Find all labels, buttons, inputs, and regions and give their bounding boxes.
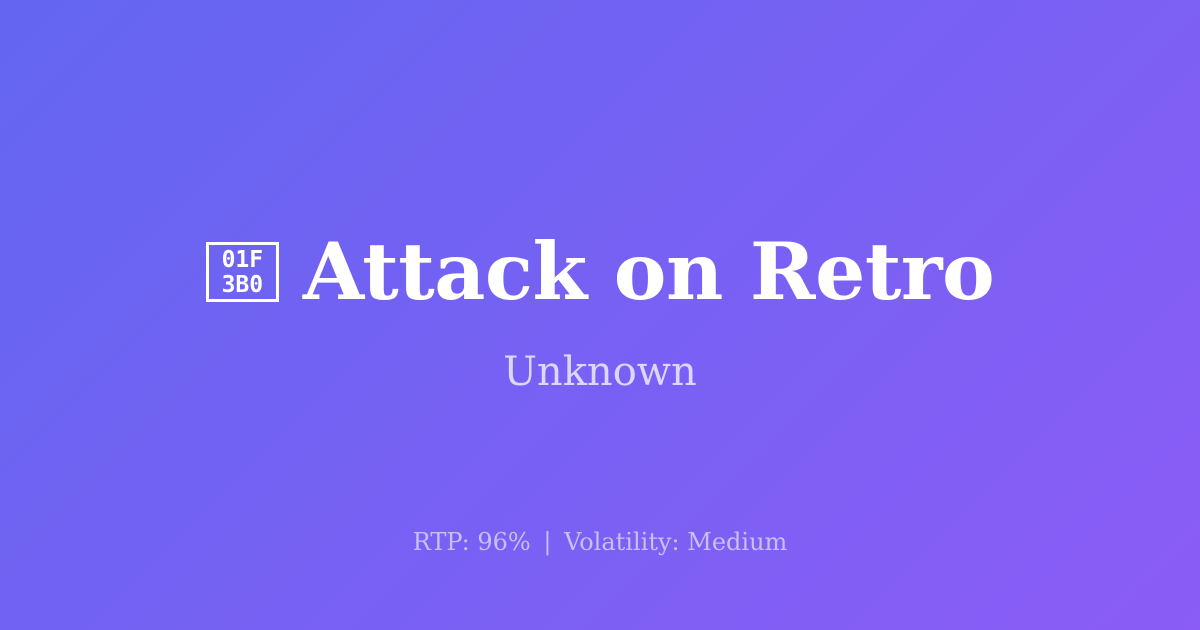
hero-block: 01F 3B0 Attack on Retro Unknown	[0, 232, 1200, 395]
page-title: Attack on Retro	[303, 232, 994, 313]
game-subtitle: Unknown	[503, 349, 697, 395]
codepoint-line-2: 3B0	[222, 273, 264, 298]
title-row: 01F 3B0 Attack on Retro	[0, 232, 1200, 313]
volatility-value: Medium	[687, 528, 787, 556]
meta-separator: |	[538, 528, 556, 556]
og-share-card: 01F 3B0 Attack on Retro Unknown RTP: 96%…	[0, 0, 1200, 630]
codepoint-line-1: 01F	[222, 248, 264, 273]
slot-machine-emoji-icon: 01F 3B0	[206, 242, 279, 302]
rtp-value: 96%	[477, 528, 530, 556]
volatility-label: Volatility:	[564, 528, 680, 556]
game-meta-line: RTP: 96% | Volatility: Medium	[0, 528, 1200, 557]
rtp-label: RTP:	[413, 528, 470, 556]
